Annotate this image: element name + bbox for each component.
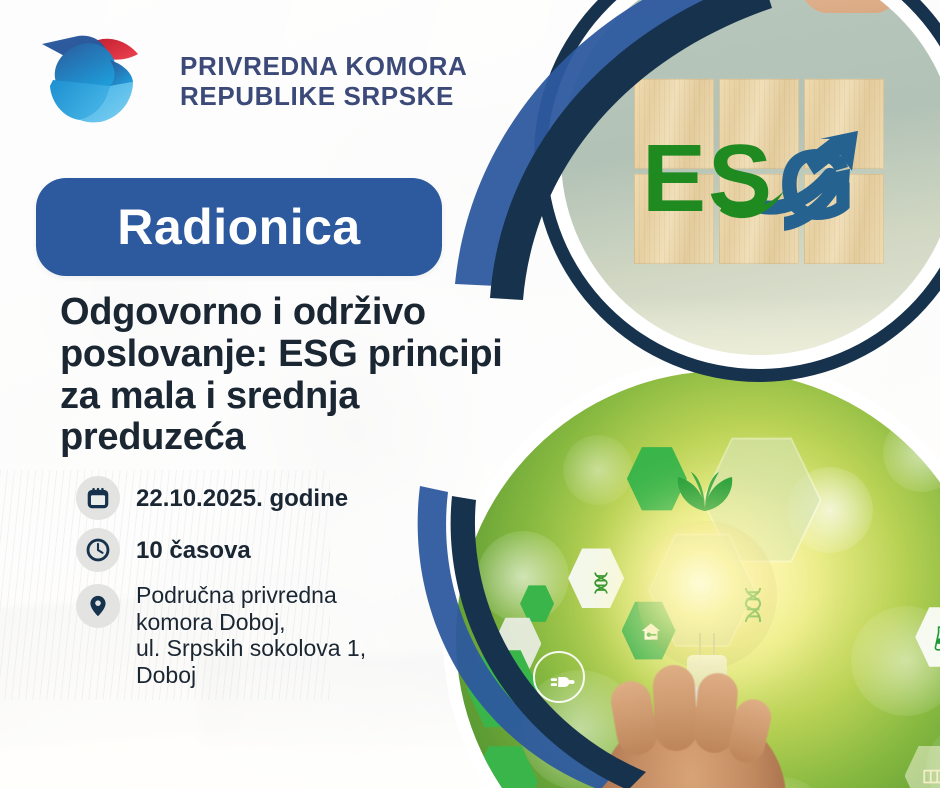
poster-canvas: E S G xyxy=(0,0,940,788)
radionica-badge: Radionica xyxy=(36,178,442,276)
detail-row-date: 22.10.2025. godine xyxy=(76,476,366,520)
clock-icon xyxy=(76,528,120,572)
detail-date-text: 22.10.2025. godine xyxy=(136,476,348,513)
event-details: 22.10.2025. godine 10 časova Područna pr… xyxy=(76,476,366,689)
brand-name: PRIVREDNA KOMORA REPUBLIKE SRPSKE xyxy=(180,51,467,111)
brand-header: PRIVREDNA KOMORA REPUBLIKE SRPSKE xyxy=(32,26,467,136)
chamber-bird-logo-icon xyxy=(32,26,162,136)
detail-row-location: Područna privredna komora Doboj, ul. Srp… xyxy=(76,580,366,689)
radionica-badge-label: Radionica xyxy=(117,198,360,256)
event-title: Odgovorno i održivo poslovanje: ESG prin… xyxy=(60,292,530,459)
detail-location-text: Područna privredna komora Doboj, ul. Srp… xyxy=(136,580,366,689)
calendar-icon xyxy=(76,476,120,520)
detail-row-time: 10 časova xyxy=(76,528,366,572)
detail-time-text: 10 časova xyxy=(136,528,251,565)
location-pin-icon xyxy=(76,584,120,628)
